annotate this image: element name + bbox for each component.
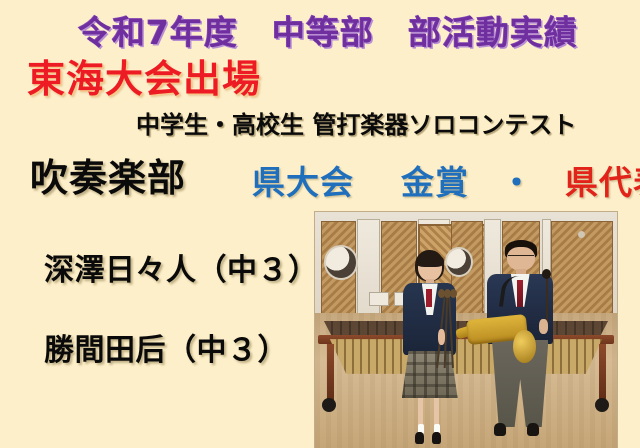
wall-vent [369, 292, 389, 306]
shoe [494, 423, 507, 435]
hand [438, 329, 445, 345]
shoe [432, 432, 441, 444]
plaid-skirt [402, 351, 458, 399]
shoe [415, 432, 424, 444]
ceiling-lamp-icon [578, 231, 585, 238]
necktie [426, 289, 432, 307]
marimba-caster [595, 398, 609, 412]
hand [539, 319, 548, 334]
page-title: 令和7年度 中等部 部活動実績 [78, 16, 578, 49]
marimba-leg [327, 344, 334, 403]
member-name: 勝間田后（中３） [44, 336, 288, 366]
club-name: 吹奏楽部 [30, 159, 186, 197]
sax-bell [513, 330, 535, 363]
shoe [527, 423, 540, 435]
students-photo: KOROGI [315, 212, 617, 448]
achievement-banner: 東海大会出場 [27, 60, 261, 98]
student-boy-saxophone [484, 240, 563, 448]
result-award: 金賞 [401, 163, 469, 202]
photo-scene: KOROGI [315, 212, 617, 448]
result-stage: 県大会 [252, 163, 354, 202]
mallet-head [542, 269, 551, 279]
mallet-head [450, 289, 457, 298]
contest-name: 中学生・高校生 管打楽器ソロコンテスト [136, 113, 576, 137]
saxophone-instrument [451, 311, 537, 386]
wall-medallion [324, 245, 358, 280]
result-representative: 県代表 [565, 163, 640, 202]
hair-fringe [416, 254, 444, 267]
result-line: 県大会 金賞 ・ 県代表 [252, 166, 640, 199]
member-name: 深澤日々人（中３） [44, 256, 319, 286]
glasses-icon [508, 255, 535, 262]
poster-root: 令和7年度 中等部 部活動実績 東海大会出場 中学生・高校生 管打楽器ソロコンテ… [0, 0, 640, 448]
marimba-leg [599, 344, 606, 403]
result-separator: ・ [500, 163, 534, 202]
